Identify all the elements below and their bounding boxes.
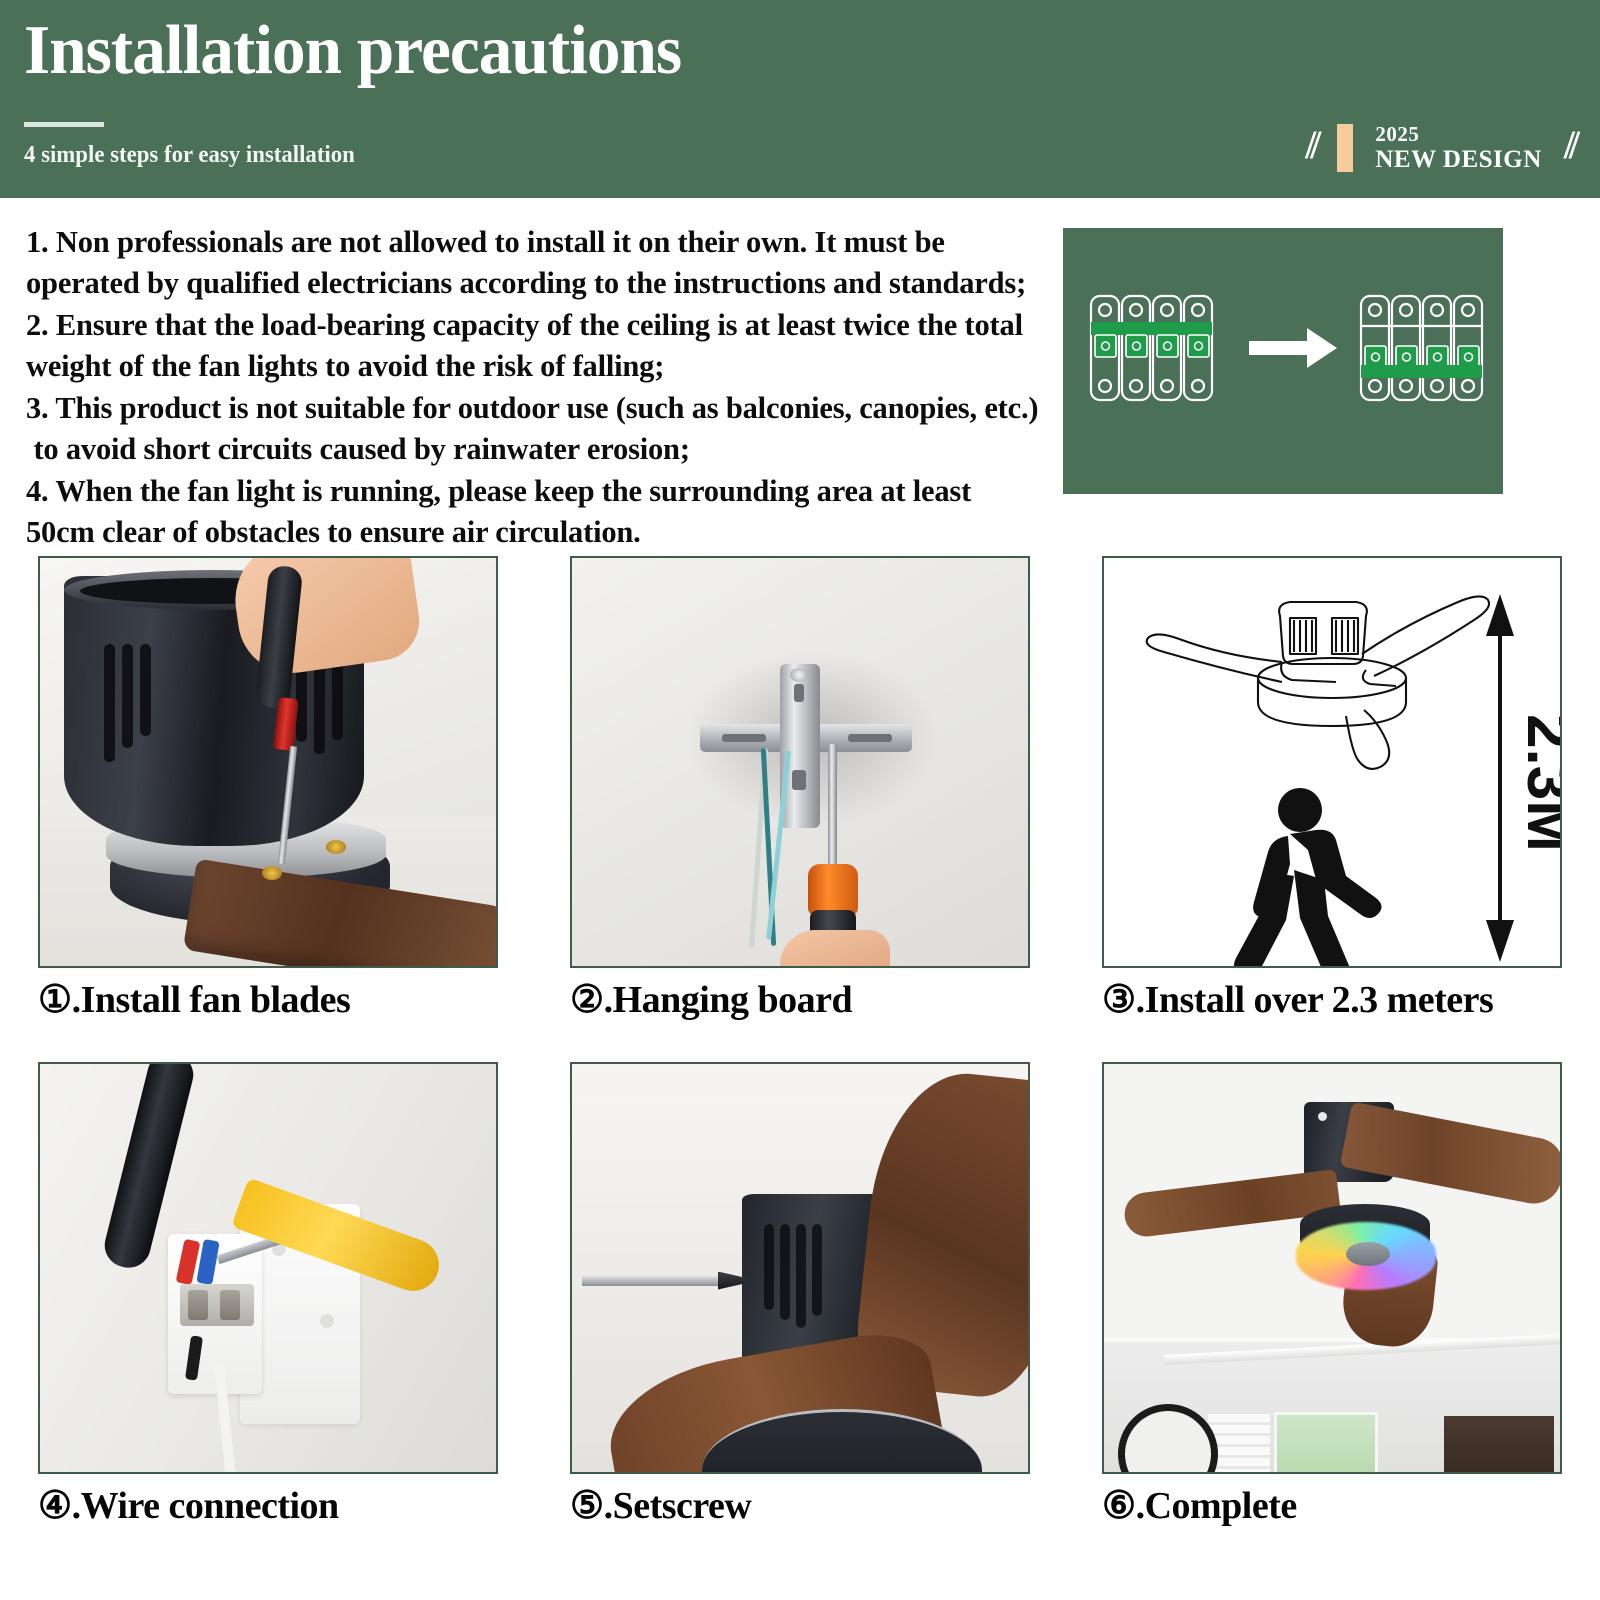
right-arrow-icon (1249, 328, 1337, 368)
badge-text-group: 2025 NEW DESIGN (1375, 122, 1541, 175)
badge-year: 2025 (1375, 122, 1541, 146)
precautions-paragraph: 1. Non professionals are not allowed to … (26, 222, 1046, 554)
step-photo-1 (38, 556, 498, 968)
walking-person-icon (1234, 788, 1382, 966)
precautions-text-block: 1. Non professionals are not allowed to … (26, 222, 1046, 554)
breaker-diagram-svg (1063, 228, 1503, 494)
step-caption-1: ①.Install fan blades (38, 979, 502, 1022)
step-caption-3: ③.Install over 2.3 meters (1102, 979, 1566, 1022)
step-cell-6: ⑥.Complete (1102, 1062, 1566, 1528)
slash-decoration-right: // (1564, 125, 1574, 165)
slash-decoration-left: // (1305, 125, 1315, 165)
new-design-badge: // 2025 NEW DESIGN // (1305, 118, 1574, 178)
step-cell-3: 2.3M ③.Install over 2.3 meters (1102, 556, 1566, 1022)
breaker-off-green-bar (1361, 365, 1482, 378)
page-title: Installation precautions (24, 14, 681, 88)
badge-accent-bar (1337, 124, 1353, 172)
height-dimension-arrow (1486, 594, 1514, 962)
step-photo-4 (38, 1062, 498, 1474)
title-underline (24, 122, 104, 127)
step-cell-2: ②.Hanging board (570, 556, 1034, 1022)
circuit-breaker-diagram (1063, 228, 1503, 494)
steps-row-1: ①.Install fan blades (38, 556, 1566, 1022)
step-cell-4: ④.Wire connection (38, 1062, 502, 1528)
step-photo-3: 2.3M (1102, 556, 1562, 968)
step-photo-6 (1102, 1062, 1562, 1474)
step-photo-5 (570, 1062, 1030, 1474)
page-header: Installation precautions 4 simple steps … (0, 0, 1600, 198)
step-caption-6: ⑥.Complete (1102, 1485, 1566, 1528)
step-cell-5: ⑤.Setscrew (570, 1062, 1034, 1528)
step-caption-5: ⑤.Setscrew (570, 1485, 1034, 1528)
step-photo-2 (570, 556, 1030, 968)
step-caption-4: ④.Wire connection (38, 1485, 502, 1528)
ceiling-fan-line-art (1147, 596, 1489, 768)
step-caption-2: ②.Hanging board (570, 979, 1034, 1022)
height-label: 2.3M (1514, 714, 1560, 852)
page-subtitle: 4 simple steps for easy installation (24, 142, 355, 169)
badge-label: NEW DESIGN (1375, 146, 1541, 175)
fan-height-diagram: 2.3M (1104, 558, 1560, 966)
steps-row-2: ④.Wire connection ⑤.Setscrew (38, 1062, 1566, 1528)
step-cell-1: ①.Install fan blades (38, 556, 502, 1022)
breaker-on-green-bar (1091, 322, 1212, 335)
steps-grid: ①.Install fan blades (38, 556, 1566, 1527)
